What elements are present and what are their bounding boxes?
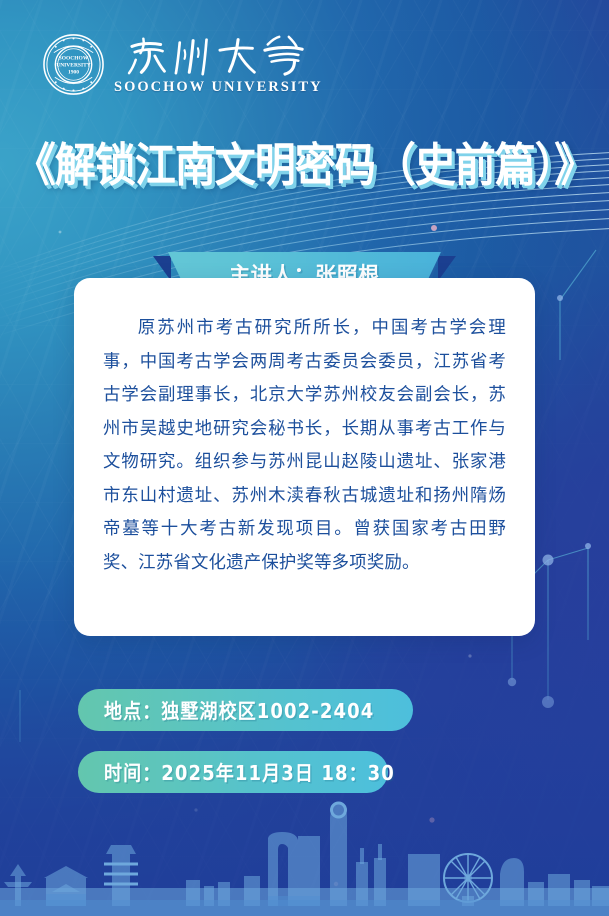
logo-english-name: SOOCHOW UNIVERSITY xyxy=(114,79,323,96)
university-logo: SOOCHOW UNIVERSITY 1900 xyxy=(42,33,323,96)
location-text: 地点：独墅湖校区1002-2404 xyxy=(104,695,374,724)
speaker-bio-card: 原苏州市考古研究所所长，中国考古学会理事，中国考古学会两周考古委员会委员，江苏省… xyxy=(74,278,535,636)
speaker-bio-text: 原苏州市考古研究所所长，中国考古学会理事，中国考古学会两周考古委员会委员，江苏省… xyxy=(74,278,535,600)
soochow-university-seal-icon: SOOCHOW UNIVERSITY 1900 xyxy=(42,33,105,96)
logo-wordmark: SOOCHOW UNIVERSITY xyxy=(114,33,323,96)
svg-text:SOOCHOW: SOOCHOW xyxy=(59,56,89,62)
poster-root: SOOCHOW UNIVERSITY 1900 xyxy=(0,0,609,916)
svg-text:1900: 1900 xyxy=(68,69,79,75)
time-text: 时间：2025年11月3日 18：30 xyxy=(104,757,395,786)
svg-text:UNIVERSITY: UNIVERSITY xyxy=(56,62,91,68)
time-pill: 时间：2025年11月3日 18：30 xyxy=(78,751,388,793)
suzhou-skyline-silhouette xyxy=(0,796,609,916)
location-pill: 地点：独墅湖校区1002-2404 xyxy=(78,689,413,731)
page-title: 《解锁江南文明密码（史前篇）》 xyxy=(0,127,609,194)
suzhou-daxue-calligraphy-icon xyxy=(122,33,314,77)
